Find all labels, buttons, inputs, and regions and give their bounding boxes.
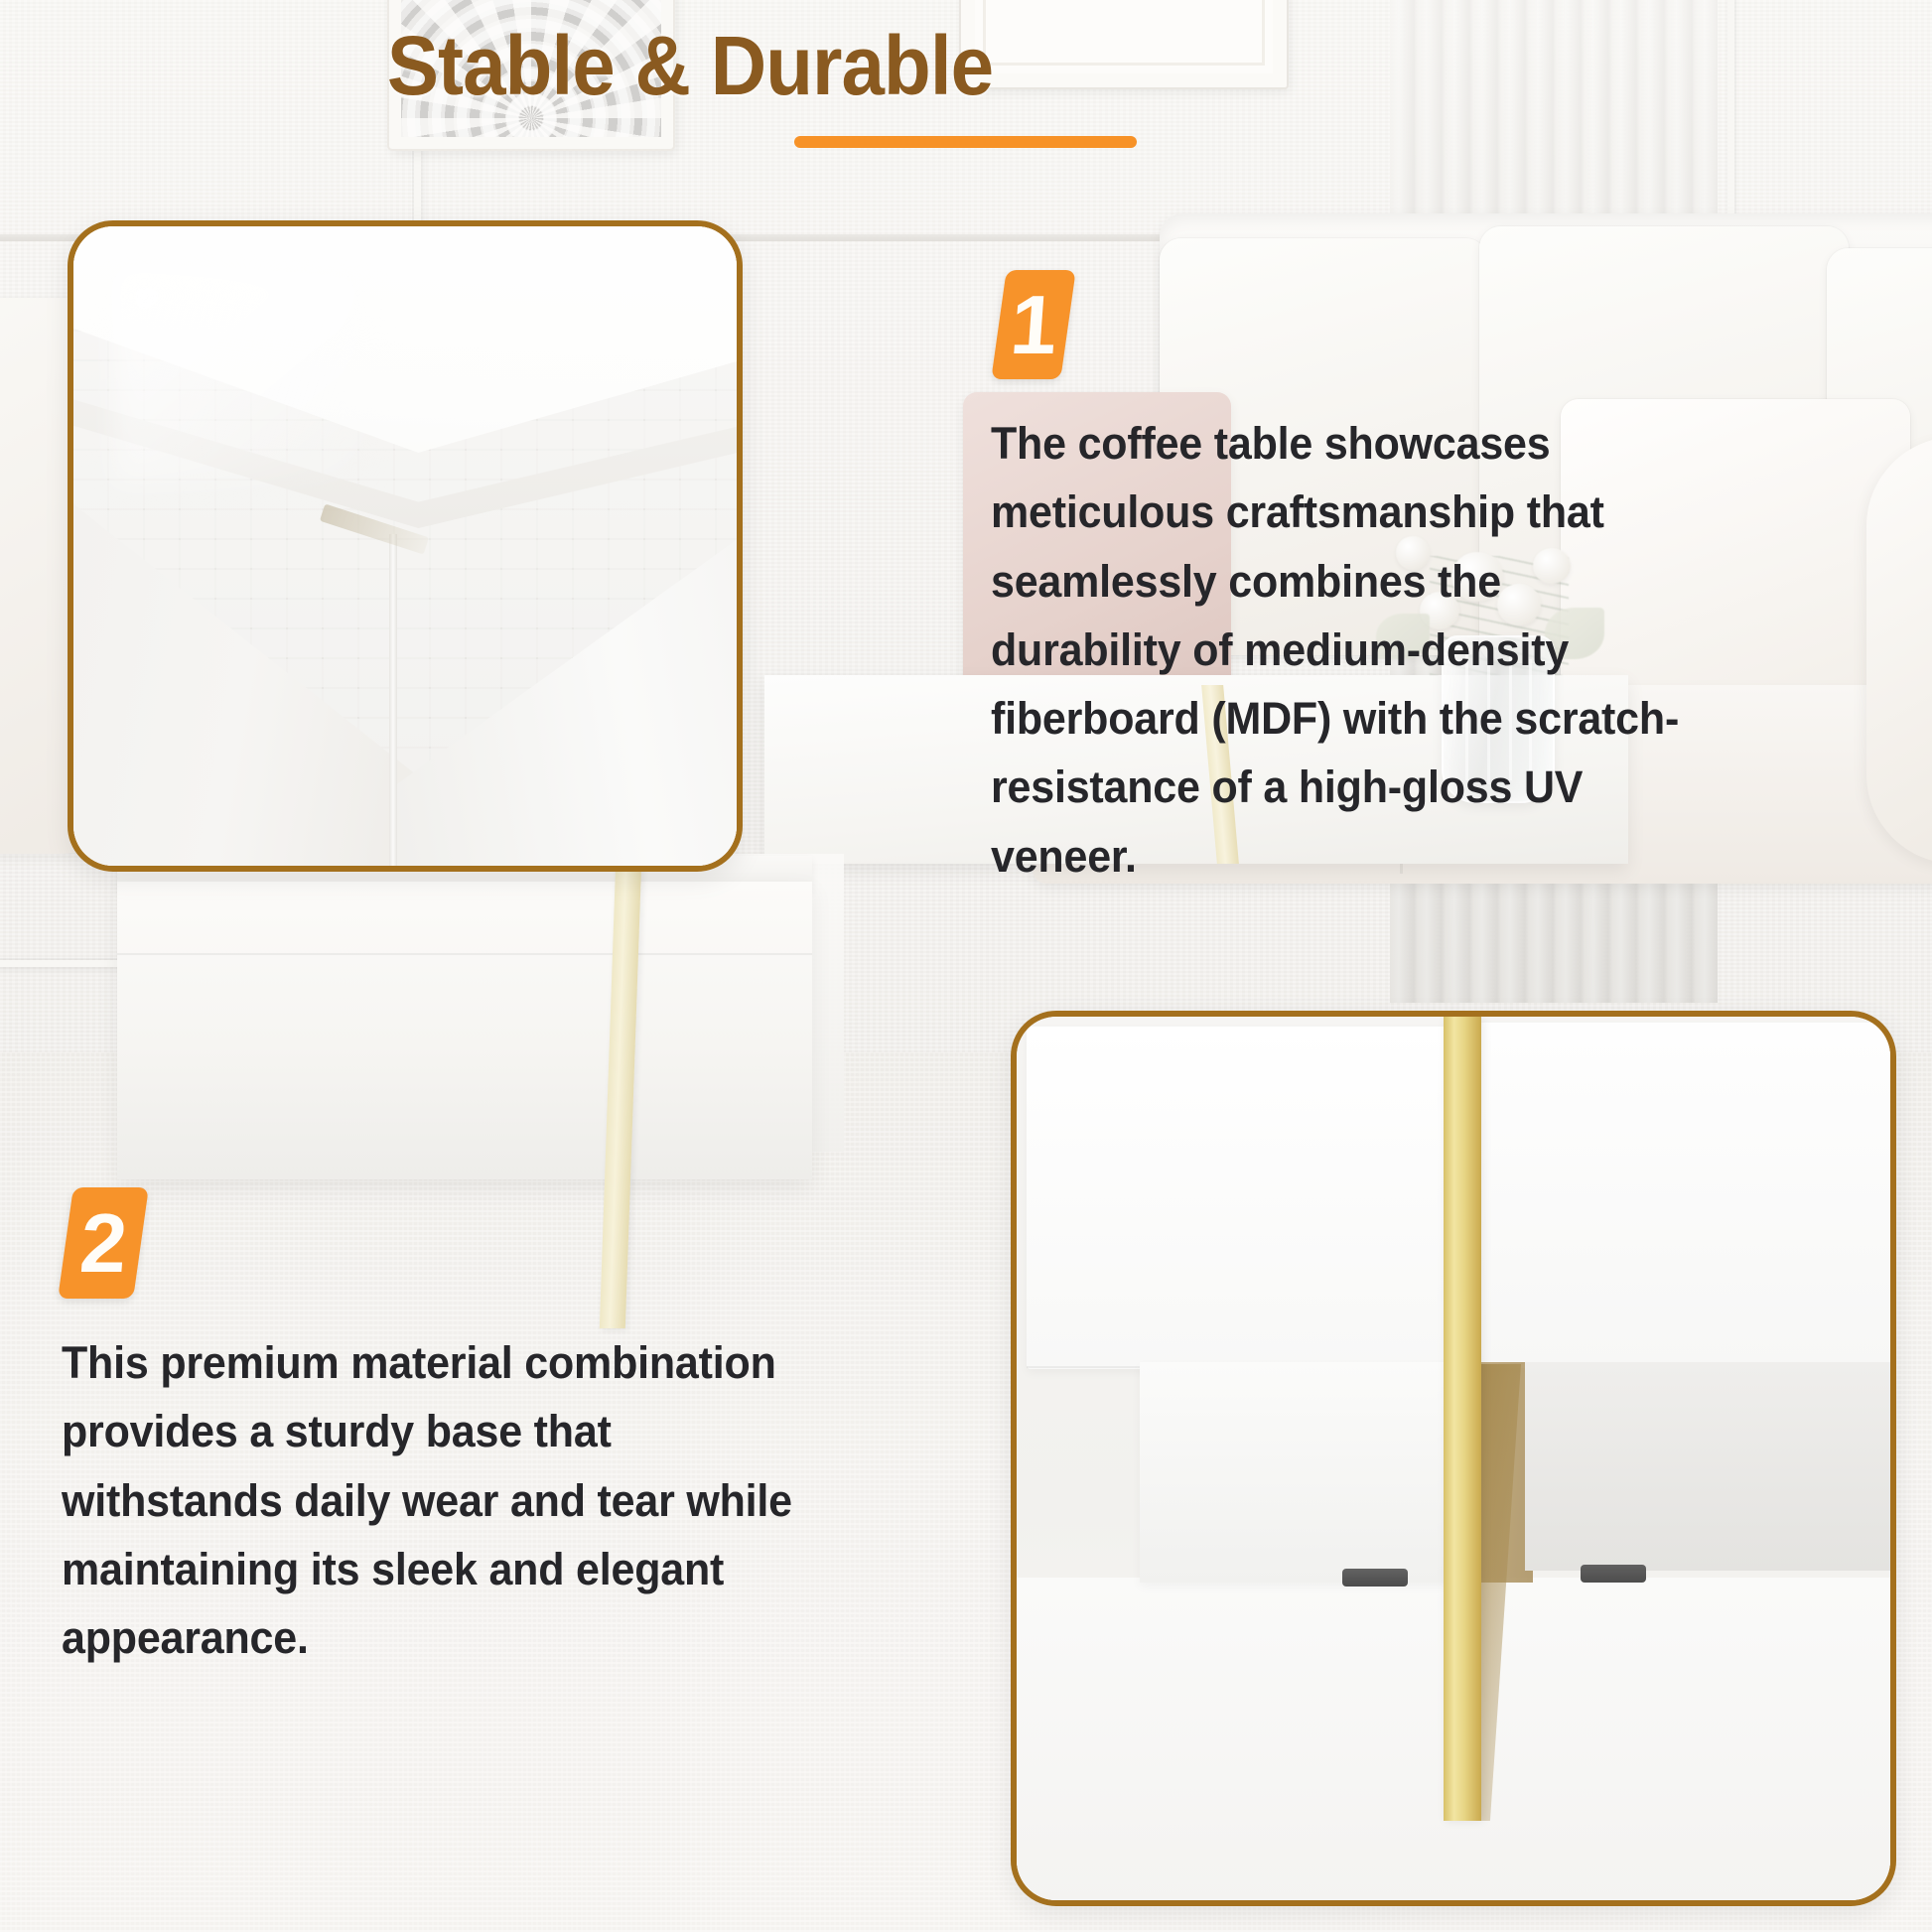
feature-badge-2-number: 2 xyxy=(77,1201,130,1285)
gold-leg xyxy=(1444,1017,1481,1821)
infographic-canvas: Stable & Durable 1 The coffee table show… xyxy=(0,0,1932,1932)
coffee-table-body xyxy=(117,882,812,1179)
sofa-arm-right xyxy=(1866,437,1932,864)
table-lower-shelf-left xyxy=(1140,1362,1455,1583)
table-foot-pad xyxy=(1581,1565,1646,1583)
feature-badge-2: 2 xyxy=(58,1187,149,1299)
table-lower-shelf-right xyxy=(1525,1362,1892,1571)
inset-table-corner-closeup xyxy=(68,220,743,872)
table-foot-pad xyxy=(1342,1569,1408,1587)
title-underline xyxy=(794,136,1137,148)
page-title: Stable & Durable xyxy=(49,18,1332,114)
table-panel-right xyxy=(1481,1023,1896,1368)
table-panel-left xyxy=(1027,1027,1453,1369)
feature-text-2: This premium material combination provid… xyxy=(62,1328,810,1672)
feature-badge-1-number: 1 xyxy=(1008,283,1060,366)
feature-text-1: The coffee table showcases meticulous cr… xyxy=(991,409,1693,891)
table-corner-seam xyxy=(389,534,397,872)
coffee-table-drawer-seam xyxy=(117,953,812,955)
inset-gold-leg-closeup xyxy=(1011,1011,1896,1906)
gloss-highlight xyxy=(113,266,371,484)
